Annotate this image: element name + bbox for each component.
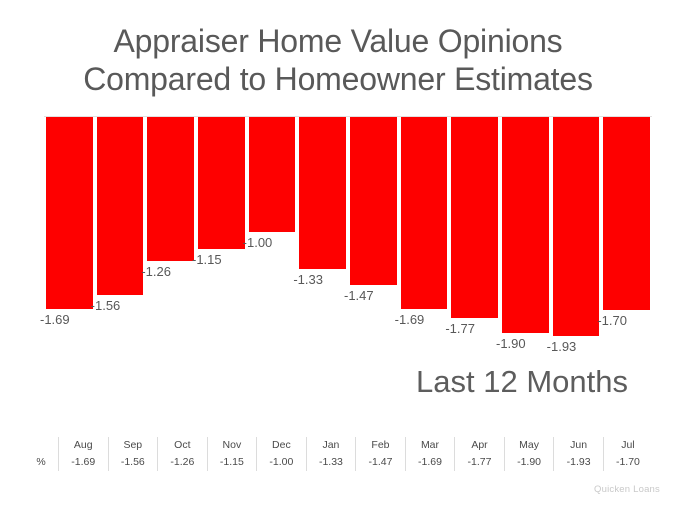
table-cell-nov: -1.15 (207, 454, 257, 471)
bar-group: -1.56 (95, 116, 146, 361)
table-cell-sep: -1.56 (108, 454, 158, 471)
table-cell-may: -1.90 (504, 454, 554, 471)
table-col-header-aug: Aug (59, 437, 109, 454)
bar-value-label: -1.69 (395, 312, 425, 327)
bar-group: -1.77 (449, 116, 500, 361)
bar-value-label: -1.70 (597, 313, 627, 328)
table-cell-aug: -1.69 (59, 454, 109, 471)
bar-value-label: -1.77 (445, 321, 475, 336)
bar-group: -1.69 (44, 116, 95, 361)
bar-group: -1.47 (348, 116, 399, 361)
slide-canvas: Appraiser Home Value Opinions Compared t… (0, 0, 676, 507)
bar-feb[interactable] (350, 117, 397, 285)
bar-oct[interactable] (147, 117, 194, 261)
bar-value-label: -1.33 (293, 272, 323, 287)
bar-value-label: -1.69 (40, 312, 70, 327)
table-col-header-feb: Feb (356, 437, 406, 454)
bar-nov[interactable] (198, 117, 245, 249)
bar-group: -1.70 (601, 116, 652, 361)
title-line-2: Compared to Homeowner Estimates (0, 60, 676, 98)
table-col-header-jun: Jun (554, 437, 604, 454)
table-row-label: % (24, 454, 59, 471)
table-col-header-jul: Jul (603, 437, 652, 454)
bar-mar[interactable] (401, 117, 448, 309)
bar-value-label: -1.90 (496, 336, 526, 351)
table-col-header-mar: Mar (405, 437, 455, 454)
table-cell-jun: -1.93 (554, 454, 604, 471)
bar-jun[interactable] (553, 117, 600, 336)
bar-chart: -1.69-1.56-1.26-1.15-1.00-1.33-1.47-1.69… (44, 116, 652, 361)
table-cell-feb: -1.47 (356, 454, 406, 471)
table-corner-cell (24, 437, 59, 454)
data-table: AugSepOctNovDecJanFebMarAprMayJunJul % -… (24, 437, 652, 471)
table-header-row: AugSepOctNovDecJanFebMarAprMayJunJul (24, 437, 652, 454)
bar-value-label: -1.56 (91, 298, 121, 313)
quicken-loans-logo: Quicken Loans (594, 484, 660, 495)
bar-value-label: -1.93 (547, 339, 577, 354)
bar-group: -1.93 (551, 116, 602, 361)
bar-value-label: -1.26 (141, 264, 171, 279)
table-col-header-jan: Jan (306, 437, 356, 454)
chart-subtitle: Last 12 Months (416, 364, 628, 400)
table-value-row: % -1.69-1.56-1.26-1.15-1.00-1.33-1.47-1.… (24, 454, 652, 471)
table-cell-oct: -1.26 (158, 454, 208, 471)
table-cell-jan: -1.33 (306, 454, 356, 471)
table-cell-apr: -1.77 (455, 454, 505, 471)
bar-value-label: -1.47 (344, 288, 374, 303)
bar-value-label: -1.15 (192, 252, 222, 267)
table-col-header-may: May (504, 437, 554, 454)
bar-group: -1.90 (500, 116, 551, 361)
table-cell-dec: -1.00 (257, 454, 307, 471)
bar-group: -1.33 (297, 116, 348, 361)
bar-jul[interactable] (603, 117, 650, 310)
bar-apr[interactable] (451, 117, 498, 318)
bar-sep[interactable] (97, 117, 144, 295)
table-col-header-dec: Dec (257, 437, 307, 454)
table-col-header-apr: Apr (455, 437, 505, 454)
table-col-header-oct: Oct (158, 437, 208, 454)
bar-group: -1.26 (145, 116, 196, 361)
bar-group: -1.69 (399, 116, 450, 361)
bar-aug[interactable] (46, 117, 93, 309)
table-cell-jul: -1.70 (603, 454, 652, 471)
table-col-header-sep: Sep (108, 437, 158, 454)
bar-dec[interactable] (249, 117, 296, 232)
bar-group: -1.15 (196, 116, 247, 361)
bar-value-label: -1.00 (243, 235, 273, 250)
table-cell-mar: -1.69 (405, 454, 455, 471)
bar-group: -1.00 (247, 116, 298, 361)
table-col-header-nov: Nov (207, 437, 257, 454)
page-title: Appraiser Home Value Opinions Compared t… (0, 22, 676, 98)
bar-jan[interactable] (299, 117, 346, 269)
bar-may[interactable] (502, 117, 549, 333)
title-line-1: Appraiser Home Value Opinions (0, 22, 676, 60)
